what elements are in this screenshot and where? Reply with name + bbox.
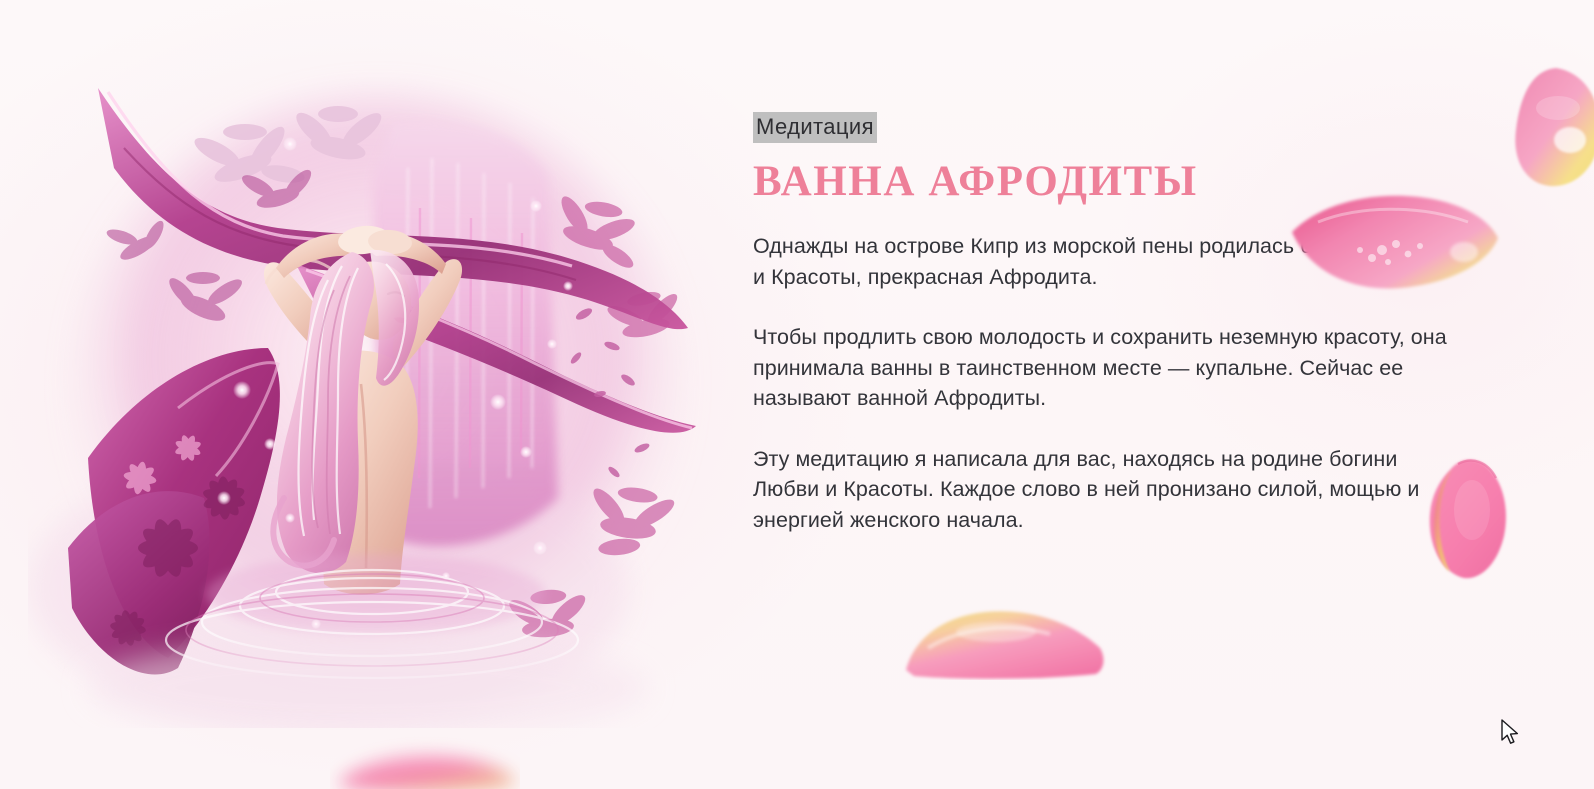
body-copy: Однажды на острове Кипр из морской пены … bbox=[753, 231, 1453, 535]
rose-petal-bottom-mid bbox=[900, 608, 1112, 680]
aphrodite-bath-illustration bbox=[28, 28, 728, 728]
paragraph-1: Однажды на острове Кипр из морской пены … bbox=[753, 231, 1453, 292]
rose-petal-top-right bbox=[1498, 62, 1594, 194]
page-root: Медитация ВАННА АФРОДИТЫ Однажды на остр… bbox=[0, 0, 1594, 789]
rose-petal-bottom-left bbox=[330, 736, 520, 789]
page-title: ВАННА АФРОДИТЫ bbox=[753, 157, 1453, 207]
category-label: Медитация bbox=[753, 112, 877, 143]
paragraph-3: Эту медитацию я написала для вас, находя… bbox=[753, 444, 1453, 536]
article-content: Медитация ВАННА АФРОДИТЫ Однажды на остр… bbox=[753, 112, 1453, 535]
mouse-pointer-icon bbox=[1500, 719, 1522, 747]
eyebrow-row: Медитация bbox=[753, 112, 1453, 143]
paragraph-2: Чтобы продлить свою молодость и сохранит… bbox=[753, 322, 1453, 414]
